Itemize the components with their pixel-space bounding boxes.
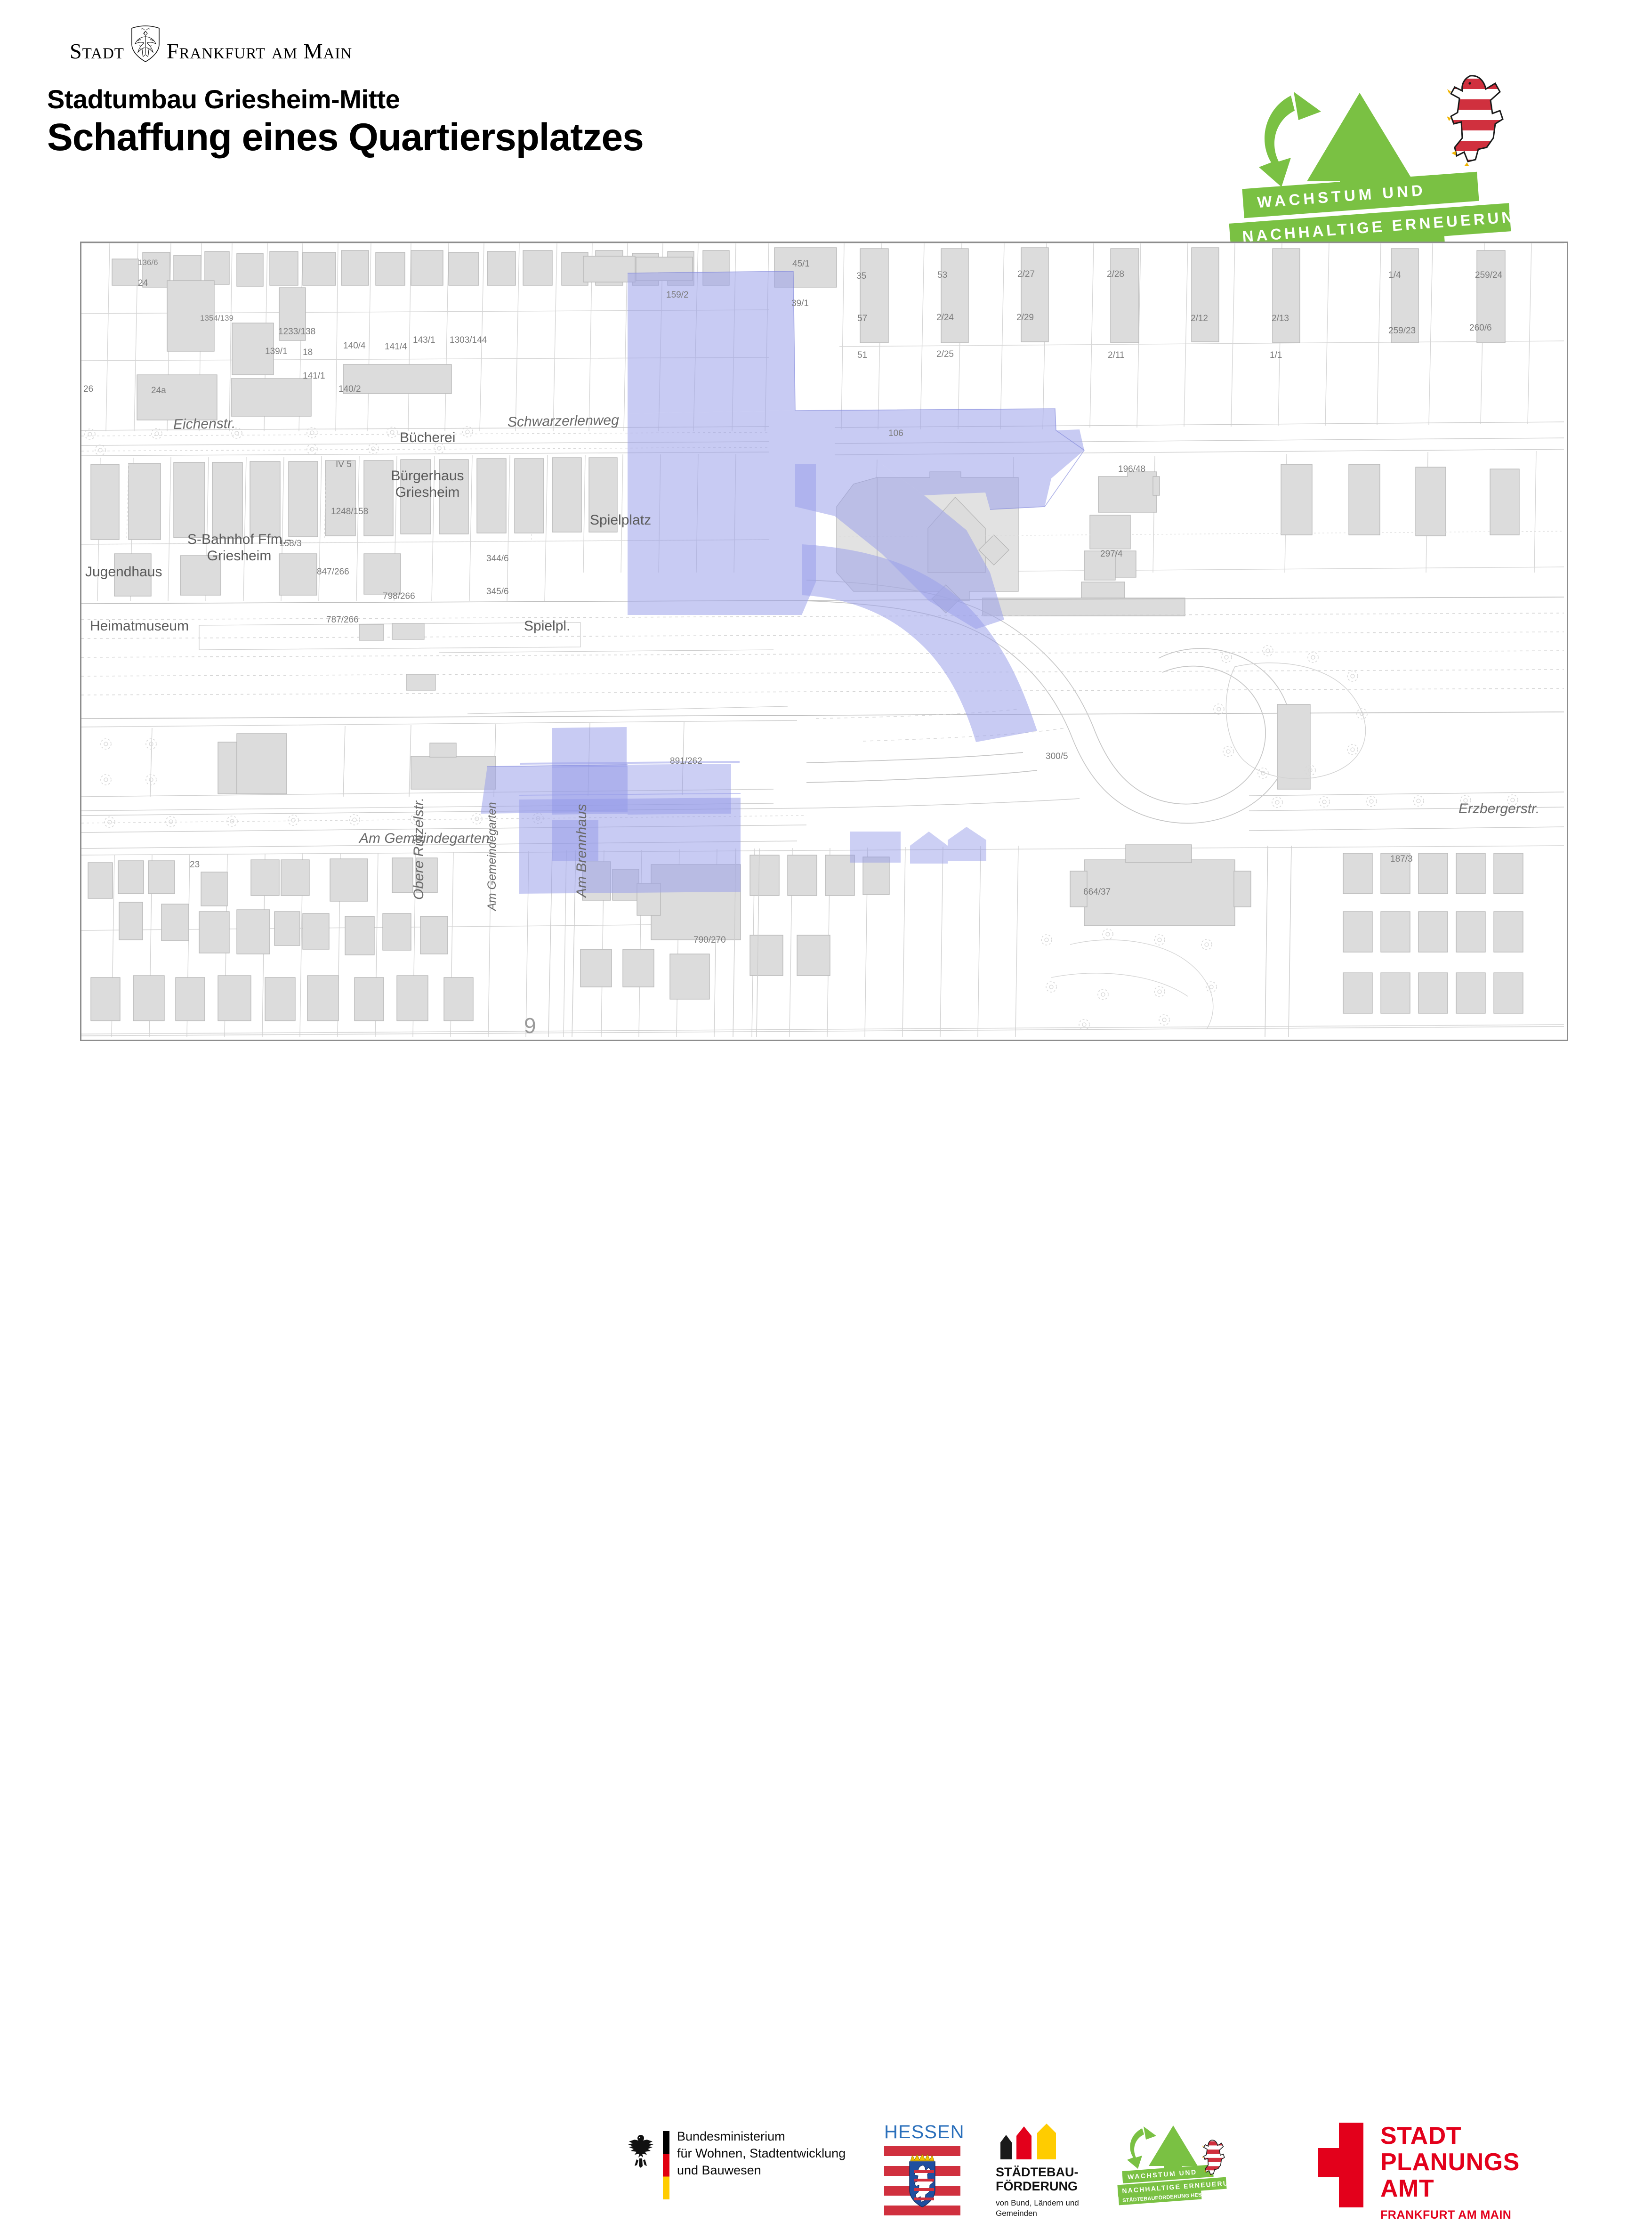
parcel-number: 297/4 — [1100, 549, 1123, 559]
place-label-heimatmuseum: Heimatmuseum — [90, 618, 189, 634]
parcel-number: 35 — [856, 271, 866, 282]
parcel-number: 141/1 — [303, 371, 325, 381]
city-logo-right: FRANKFURT AM MAIN — [167, 40, 352, 62]
tree-icon — [1149, 2125, 1198, 2173]
recycle-arrow-icon — [1259, 92, 1321, 187]
street-label-eichenstr: Eichenstr. — [173, 416, 236, 433]
parcel-number: 1303/144 — [450, 335, 487, 346]
parcel-number: 23 — [190, 860, 200, 870]
parcel-number: 2/25 — [936, 349, 954, 360]
three-houses-icon — [996, 2125, 1104, 2159]
place-label-spielpl: Spielpl. — [524, 618, 570, 634]
parcel-number: 1354/139 — [200, 314, 234, 323]
parcel-number: 106 — [888, 428, 903, 439]
parcel-number: 345/6 — [486, 587, 509, 597]
page-footer: Bundesministerium für Wohnen, Stadtentwi… — [0, 1055, 1652, 1168]
place-label-buecherei: Bücherei — [400, 430, 455, 446]
hessen-flag — [884, 2146, 960, 2216]
parcel-number: 53 — [937, 270, 947, 281]
parcel-number: 136/6 — [138, 258, 158, 267]
street-label-obere-ruetzelstr: Obere Rützelstr. — [411, 798, 427, 900]
frankfurt-eagle-crest-icon — [131, 25, 160, 62]
parcel-number: 798/266 — [383, 591, 415, 602]
bundesadler-icon — [626, 2133, 655, 2169]
bmwsb-logo: Bundesministerium für Wohnen, Stadtentwi… — [626, 2128, 847, 2204]
parcel-number: 57 — [857, 314, 867, 324]
parcel-number: 196/48 — [1118, 464, 1145, 475]
stadtplanung-line4: FRANKFURT AM MAIN — [1380, 2208, 1520, 2222]
parcel-number: 143/1 — [413, 335, 435, 346]
parcel-number: 344/6 — [486, 554, 509, 564]
parcel-number: 139/1 — [265, 347, 288, 357]
street-label-am-gemeindegarten-vertical: Am Gemeindegarten — [485, 802, 499, 911]
parcel-number: 2/13 — [1272, 314, 1289, 324]
parcel-number: IV 5 — [336, 460, 352, 470]
parcel-number: 26 — [83, 384, 93, 395]
parcel-number: 1/4 — [1388, 270, 1401, 281]
stadtplanungsamt-logo: STADT PLANUNGS AMT FRANKFURT AM MAIN — [1318, 2123, 1539, 2217]
bmwsb-line3: und Bauwesen — [677, 2163, 761, 2177]
street-label-am-brennhaus: Am Brennhaus — [574, 804, 590, 897]
parcel-number: 2/11 — [1108, 350, 1125, 361]
hessen-lion-icon — [1200, 2137, 1232, 2180]
place-label-jugendhaus: Jugendhaus — [85, 564, 162, 580]
street-label-erzbergerstr: Erzbergerstr. — [1459, 801, 1539, 817]
parcel-number: 140/2 — [338, 384, 361, 395]
page-header: STADT — [0, 0, 1652, 235]
parcel-number: 1/1 — [1270, 350, 1282, 361]
parcel-number: 24 — [138, 278, 148, 289]
program-logo-wachstum-small: WACHSTUM UND NACHHALTIGE ERNEUERUNG STÄD… — [1120, 2123, 1262, 2212]
parcel-number: 2/27 — [1017, 269, 1035, 280]
parcel-number: 260/6 — [1469, 323, 1492, 333]
place-label-spielplatz: Spielplatz — [590, 512, 651, 528]
parcel-number: 787/266 — [326, 615, 359, 625]
staedtebau-line1: STÄDTEBAU- — [996, 2165, 1079, 2179]
hessen-shield-icon — [908, 2152, 937, 2209]
bmwsb-line1: Bundesministerium — [677, 2129, 785, 2143]
page-subtitle: Stadtumbau Griesheim-Mitte — [47, 84, 400, 114]
parcel-number: 39/1 — [791, 299, 809, 309]
parcel-number: 51 — [857, 350, 867, 361]
map-bottom-marker: 9 — [524, 1013, 536, 1038]
parcel-number: 891/262 — [670, 756, 702, 767]
stadtplanung-text: STADT PLANUNGS AMT FRANKFURT AM MAIN — [1380, 2123, 1520, 2222]
parcel-number: 159/2 — [666, 290, 689, 300]
city-logo-left: STADT — [70, 40, 124, 62]
parcel-number: 790/270 — [693, 935, 726, 945]
frankfurt-f-mark-icon — [1318, 2123, 1363, 2207]
stadtplanung-line2: PLANUNGS — [1380, 2149, 1520, 2176]
parcel-number: 18 — [303, 347, 313, 358]
map-canvas — [81, 243, 1564, 1037]
germany-flag-bar-icon — [663, 2131, 669, 2199]
staedtebau-sub1: von Bund, Ländern und — [996, 2198, 1079, 2207]
city-of-frankfurt-logo: STADT — [70, 24, 376, 62]
staedtebau-line2: FÖRDERUNG — [996, 2179, 1078, 2193]
parcel-number: 847/266 — [317, 567, 349, 577]
parcel-number: 1248/158 — [331, 507, 368, 517]
parcel-number: 2/28 — [1107, 269, 1124, 280]
cadastral-map[interactable]: Eichenstr. Schwarzerlenweg Erzbergerstr.… — [80, 242, 1568, 1041]
parcel-number: 141/4 — [385, 342, 407, 352]
bmwsb-line2: für Wohnen, Stadtentwicklung — [677, 2146, 846, 2160]
parcel-number: 2/24 — [936, 313, 954, 323]
parcel-number: 1233/138 — [278, 327, 315, 337]
parcel-number: 187/3 — [1390, 854, 1413, 865]
hessen-lion-icon — [1441, 67, 1521, 176]
parcel-number: 300/5 — [1046, 751, 1068, 762]
parcel-number: 24a — [151, 386, 166, 396]
staedtebau-sub2: Gemeinden — [996, 2209, 1037, 2218]
stadtplanung-line3: AMT — [1380, 2175, 1434, 2202]
parcel-number: 259/23 — [1388, 326, 1416, 336]
parcel-number: 158/3 — [279, 539, 302, 549]
page-title: Schaffung eines Quartiersplatzes — [47, 115, 644, 160]
street-label-schwarzerlenweg: Schwarzerlenweg — [508, 412, 619, 430]
hessen-wordmark: HESSEN — [884, 2123, 960, 2141]
parcel-number: 2/29 — [1016, 313, 1034, 323]
bmwsb-text: Bundesministerium für Wohnen, Stadtentwi… — [677, 2128, 846, 2179]
stadtplanung-line1: STADT — [1380, 2122, 1461, 2149]
parcel-number: 664/37 — [1083, 887, 1111, 897]
staedtebaufoerderung-logo: STÄDTEBAU- FÖRDERUNG von Bund, Ländern u… — [996, 2125, 1104, 2210]
place-label-buergerhaus-griesheim: Bürgerhaus Griesheim — [383, 468, 472, 501]
parcel-number: 140/4 — [343, 341, 366, 351]
hessen-logo: HESSEN — [884, 2123, 960, 2212]
parcel-number: 2/12 — [1191, 314, 1208, 324]
parcel-number: 259/24 — [1475, 270, 1502, 281]
parcel-number: 45/1 — [792, 259, 810, 269]
